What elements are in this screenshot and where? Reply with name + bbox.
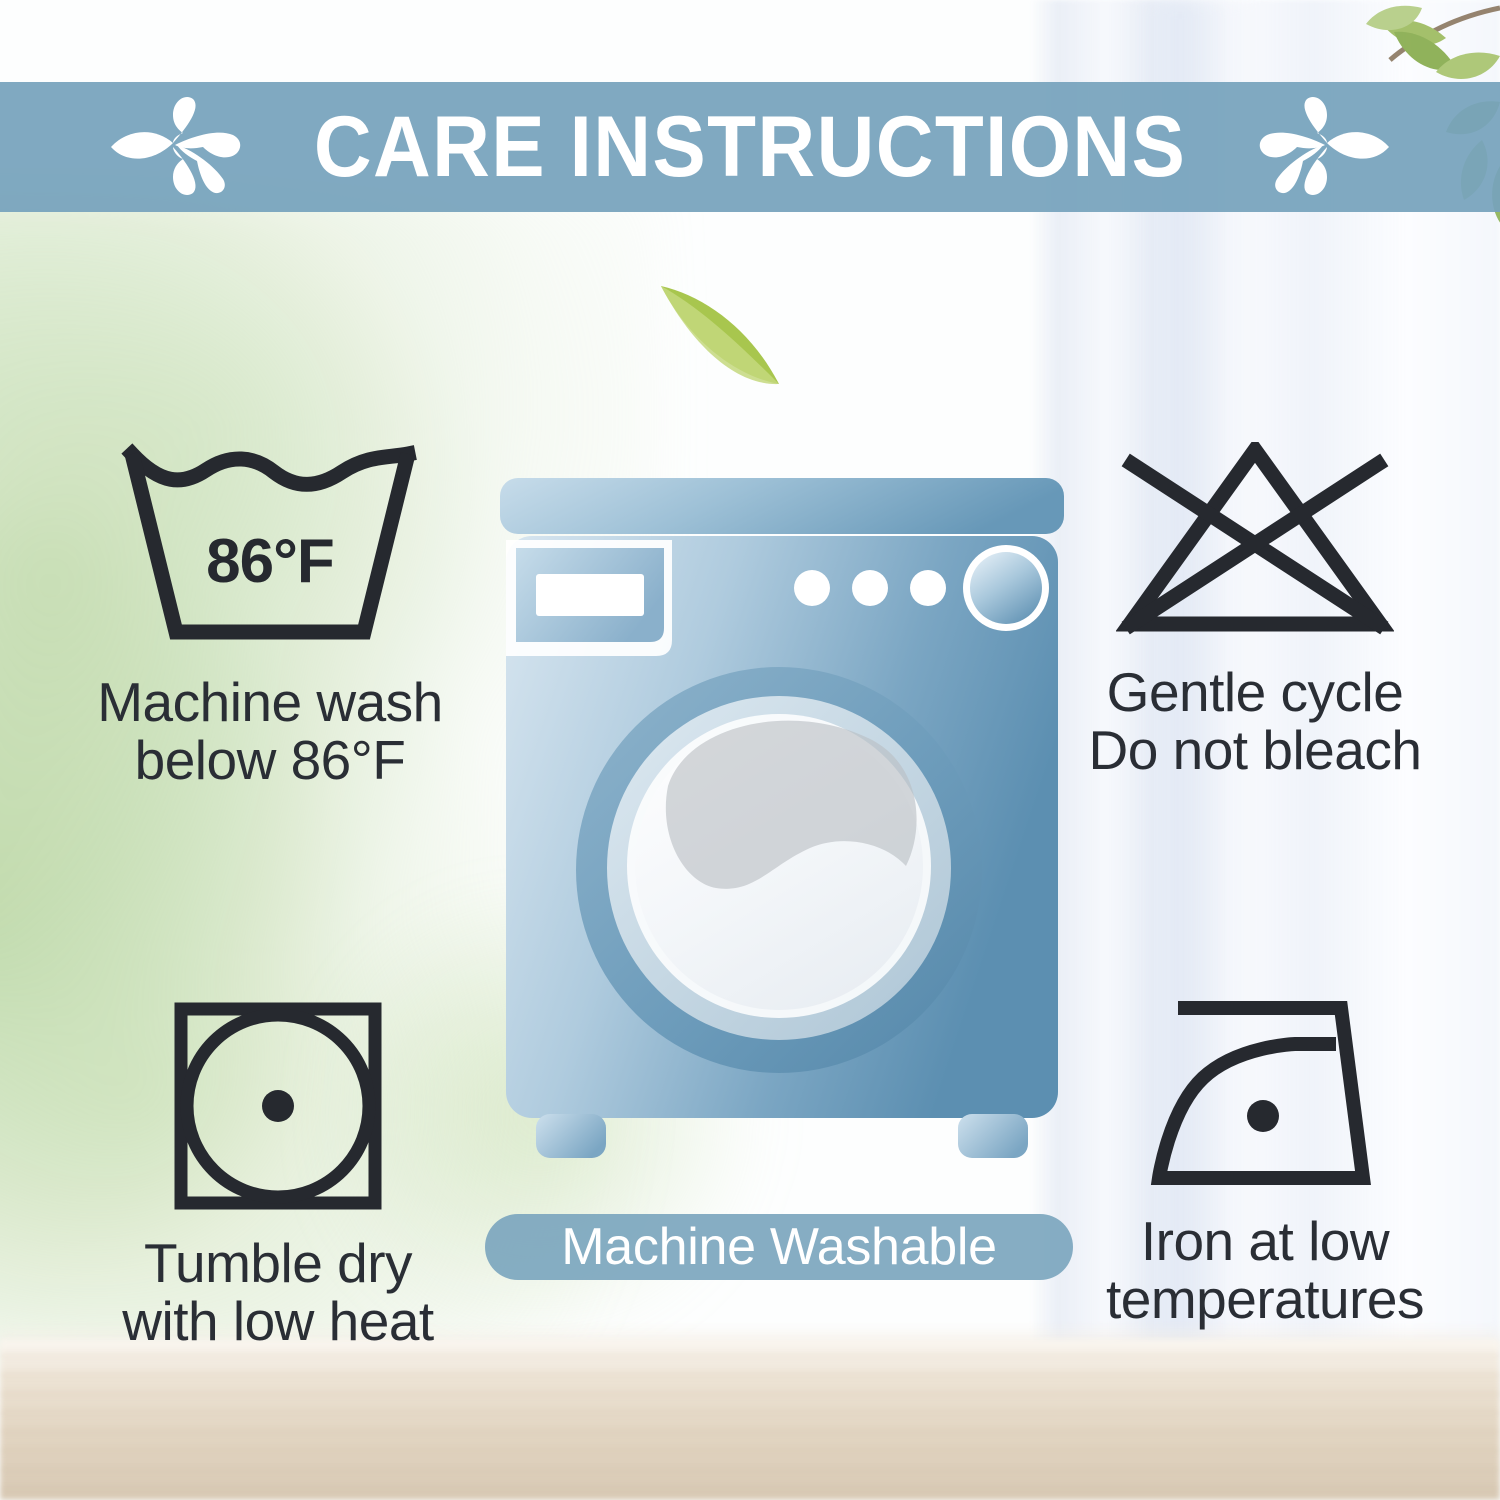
badge-label: Machine Washable xyxy=(561,1221,997,1273)
care-item-machine-wash: 86°F Machine wash below 86°F xyxy=(55,442,485,790)
background-table-grain xyxy=(0,1340,1500,1500)
indicator-dot xyxy=(794,570,830,606)
care-caption-do-not-bleach: Gentle cycle Do not bleach xyxy=(1089,663,1422,780)
care-item-iron: Iron at low temperatures xyxy=(1055,1000,1475,1329)
care-caption-iron: Iron at low temperatures xyxy=(1106,1212,1424,1329)
care-item-tumble-dry: Tumble dry with low heat xyxy=(78,1000,478,1351)
page-title: CARE INSTRUCTIONS xyxy=(314,104,1186,190)
care-item-do-not-bleach: Gentle cycle Do not bleach xyxy=(1040,442,1470,780)
crossed-triangle-icon xyxy=(1116,442,1394,637)
indicator-dot xyxy=(910,570,946,606)
care-instructions-infographic: CARE INSTRUCTIONS 86°F Machine wash belo… xyxy=(0,0,1500,1500)
wash-tub-symbol: 86°F xyxy=(120,442,420,647)
iron-low-heat-icon xyxy=(1145,1000,1385,1190)
fleur-de-lis-icon xyxy=(1253,95,1389,199)
machine-foot xyxy=(536,1114,606,1158)
machine-washable-badge: Machine Washable xyxy=(485,1214,1073,1280)
care-caption-machine-wash: Machine wash below 86°F xyxy=(97,673,443,790)
floating-green-leaf xyxy=(655,278,795,398)
wash-temperature-value: 86°F xyxy=(120,526,420,597)
machine-lid xyxy=(500,478,1064,534)
care-caption-tumble-dry: Tumble dry with low heat xyxy=(122,1234,433,1351)
header-banner: CARE INSTRUCTIONS xyxy=(0,82,1500,212)
tumble-dry-low-icon xyxy=(172,1000,384,1212)
washing-machine-illustration xyxy=(492,470,1072,1190)
fleur-de-lis-icon xyxy=(111,95,247,199)
machine-foot xyxy=(958,1114,1028,1158)
control-knob xyxy=(970,552,1042,624)
detergent-drawer-slot xyxy=(536,574,644,616)
indicator-dot xyxy=(852,570,888,606)
